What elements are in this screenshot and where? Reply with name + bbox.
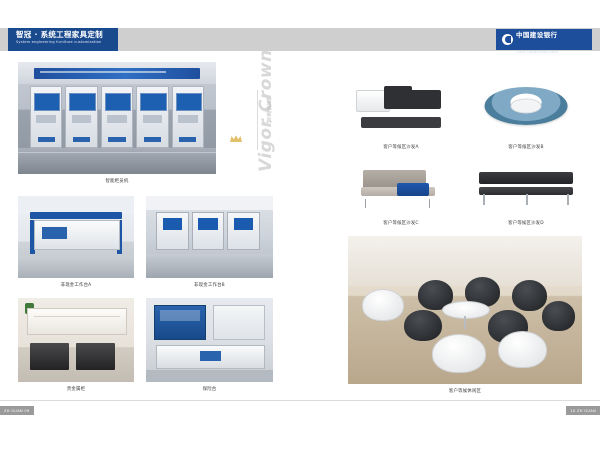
product-photo-sofa-a	[348, 72, 454, 140]
bank-logo-text: 中国建设银行 China Construction Bank	[516, 24, 558, 56]
product-photo-sofa-c	[348, 158, 454, 218]
product-caption-workstation-b: 非现金工作台B	[146, 282, 273, 288]
product-caption-atm: 智能柜员机	[18, 178, 216, 184]
product-card-sofa-d[interactable]: 客户等候区沙发D	[470, 158, 582, 218]
bank-name-en: China Construction Bank	[516, 50, 558, 54]
product-caption-sofa-b: 客户等候区沙发B	[470, 144, 582, 150]
right-product-column: 客户等候区沙发A 客户等候区沙发B 客户等候区沙发C	[348, 62, 582, 392]
product-photo-sofa-d	[470, 158, 582, 218]
product-card-atm[interactable]: 智能柜员机	[18, 62, 216, 174]
brand-title-cn: 智冠 · 系统工程家具定制	[16, 30, 112, 39]
page-number-right: 10 ZH GUAN	[566, 406, 600, 415]
page-header: 智冠 · 系统工程家具定制 System engineering furnitu…	[0, 28, 600, 51]
product-caption-sofa-d: 客户等候区沙发D	[470, 220, 582, 226]
bank-mark-icon	[502, 34, 513, 45]
catalog-page: 智冠 · 系统工程家具定制 System engineering furnitu…	[0, 0, 600, 450]
left-product-column: 智能柜员机 非现金工作台A 非现金工作台B	[18, 62, 273, 392]
bank-logo: 中国建设银行 China Construction Bank	[496, 29, 592, 50]
product-card-workstation-a[interactable]: 非现金工作台A	[18, 196, 134, 278]
product-photo-atm	[18, 62, 216, 174]
product-card-sofa-c[interactable]: 客户等候区沙发C	[348, 158, 454, 218]
product-card-sofa-a[interactable]: 客户等候区沙发A	[348, 72, 454, 140]
product-caption-insurance-counter: 保险台	[146, 386, 273, 392]
product-caption-lounge: 客户等候休闲区	[348, 388, 582, 394]
product-photo-insurance-counter	[146, 298, 273, 382]
product-photo-sofa-b	[470, 72, 582, 140]
brand-tab: 智冠 · 系统工程家具定制 System engineering furnitu…	[8, 28, 118, 51]
brand-title-en: System engineering furniture customizati…	[16, 39, 112, 45]
bank-name-cn: 中国建设银行	[516, 31, 557, 39]
footer-divider	[0, 400, 600, 401]
product-card-workstation-b[interactable]: 非现金工作台B	[146, 196, 273, 278]
product-card-precious-metal-cabinet[interactable]: 贵金属柜	[18, 298, 134, 382]
product-photo-workstation-a	[18, 196, 134, 278]
product-card-sofa-b[interactable]: 客户等候区沙发B	[470, 72, 582, 140]
product-card-insurance-counter[interactable]: 保险台	[146, 298, 273, 382]
product-photo-lounge	[348, 236, 582, 384]
product-caption-precious-metal-cabinet: 贵金属柜	[18, 386, 134, 392]
product-caption-sofa-c: 客户等候区沙发C	[348, 220, 454, 226]
product-photo-workstation-b	[146, 196, 273, 278]
product-caption-sofa-a: 客户等候区沙发A	[348, 144, 454, 150]
page-number-left: ZH GUAN 09	[0, 406, 34, 415]
product-card-lounge[interactable]: 客户等候休闲区	[348, 236, 582, 384]
product-photo-precious-metal-cabinet	[18, 298, 134, 382]
product-caption-workstation-a: 非现金工作台A	[18, 282, 134, 288]
